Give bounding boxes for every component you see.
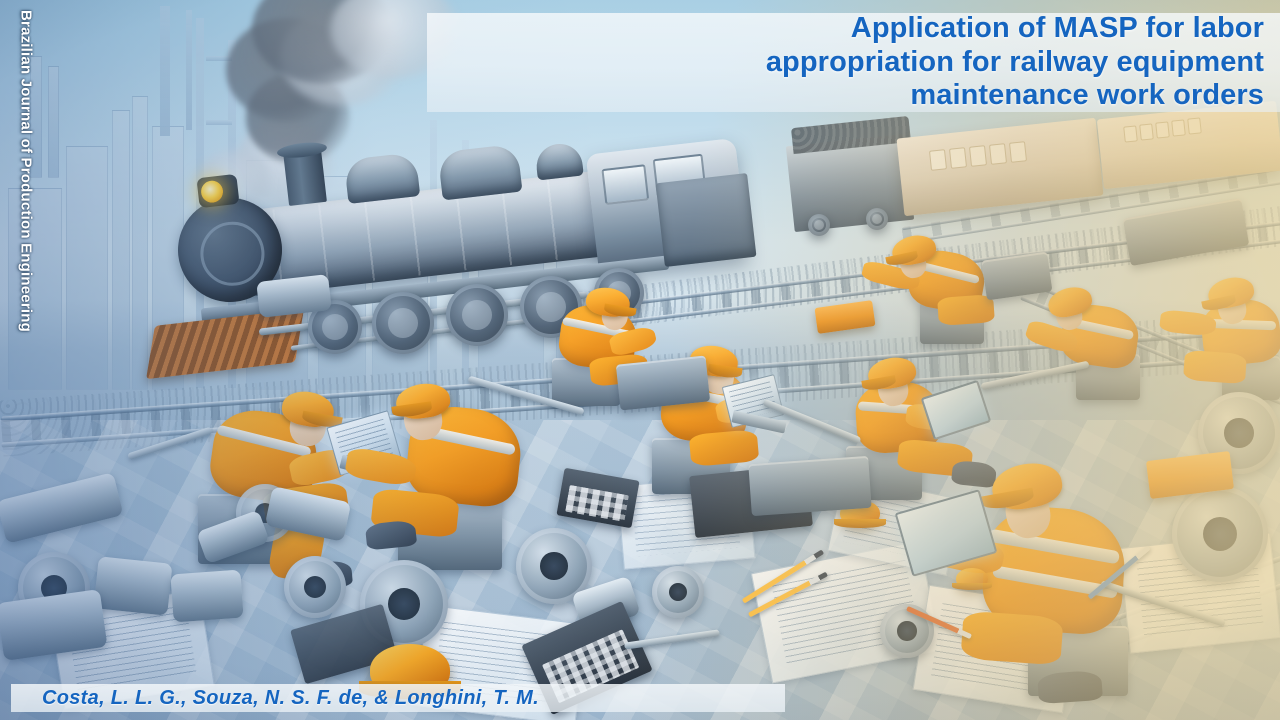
article-title: Application of MASP for labor appropriat… (766, 12, 1264, 114)
journal-name-spine: Brazilian Journal of Production Engineer… (9, 10, 43, 366)
author-banner: Costa, L. L. G., Souza, N. S. F. de, & L… (11, 684, 785, 712)
article-authors: Costa, L. L. G., Souza, N. S. F. de, & L… (42, 687, 539, 710)
journal-cover-image: Application of MASP for labor appropriat… (0, 0, 1280, 720)
title-banner: Application of MASP for labor appropriat… (427, 13, 1280, 112)
journal-name-text: Brazilian Journal of Production Engineer… (18, 10, 35, 332)
